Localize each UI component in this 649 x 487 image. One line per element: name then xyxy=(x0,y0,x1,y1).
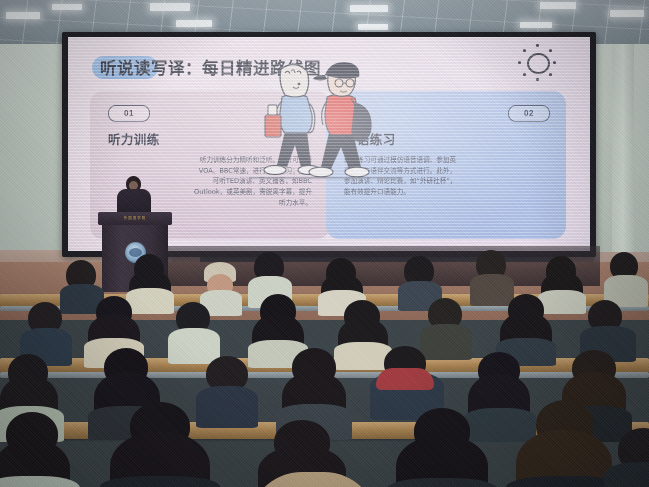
ceiling-light xyxy=(150,3,190,11)
ceiling-light xyxy=(52,4,82,10)
figure-student-right xyxy=(309,62,371,177)
lecture-hall-photo: 听说读写译：每日精进路线图 01 听力训练 听力 xyxy=(0,0,649,487)
two-students-walking-illustration xyxy=(251,53,401,185)
ceiling-light xyxy=(610,10,644,17)
ceiling-light xyxy=(6,12,40,19)
section-heading-01: 听力训练 xyxy=(108,129,160,148)
sun-core xyxy=(527,53,550,74)
ceiling-light xyxy=(540,2,576,9)
section-badge-01: 01 xyxy=(108,105,150,122)
ceiling-light xyxy=(358,24,388,30)
presenter xyxy=(113,176,155,216)
ceiling-light xyxy=(176,20,212,27)
ceiling-light xyxy=(520,22,552,28)
figure-student-left xyxy=(264,64,320,174)
lectern-top-panel: 外国语学院 xyxy=(98,212,172,225)
sun-icon xyxy=(516,42,558,84)
section-badge-02: 02 xyxy=(508,105,550,122)
illustration-ground-line xyxy=(251,177,401,179)
lectern-nameplate: 外国语学院 xyxy=(108,215,162,220)
ceiling-light xyxy=(350,5,388,12)
audience-area xyxy=(0,250,649,487)
red-hood xyxy=(376,368,434,390)
